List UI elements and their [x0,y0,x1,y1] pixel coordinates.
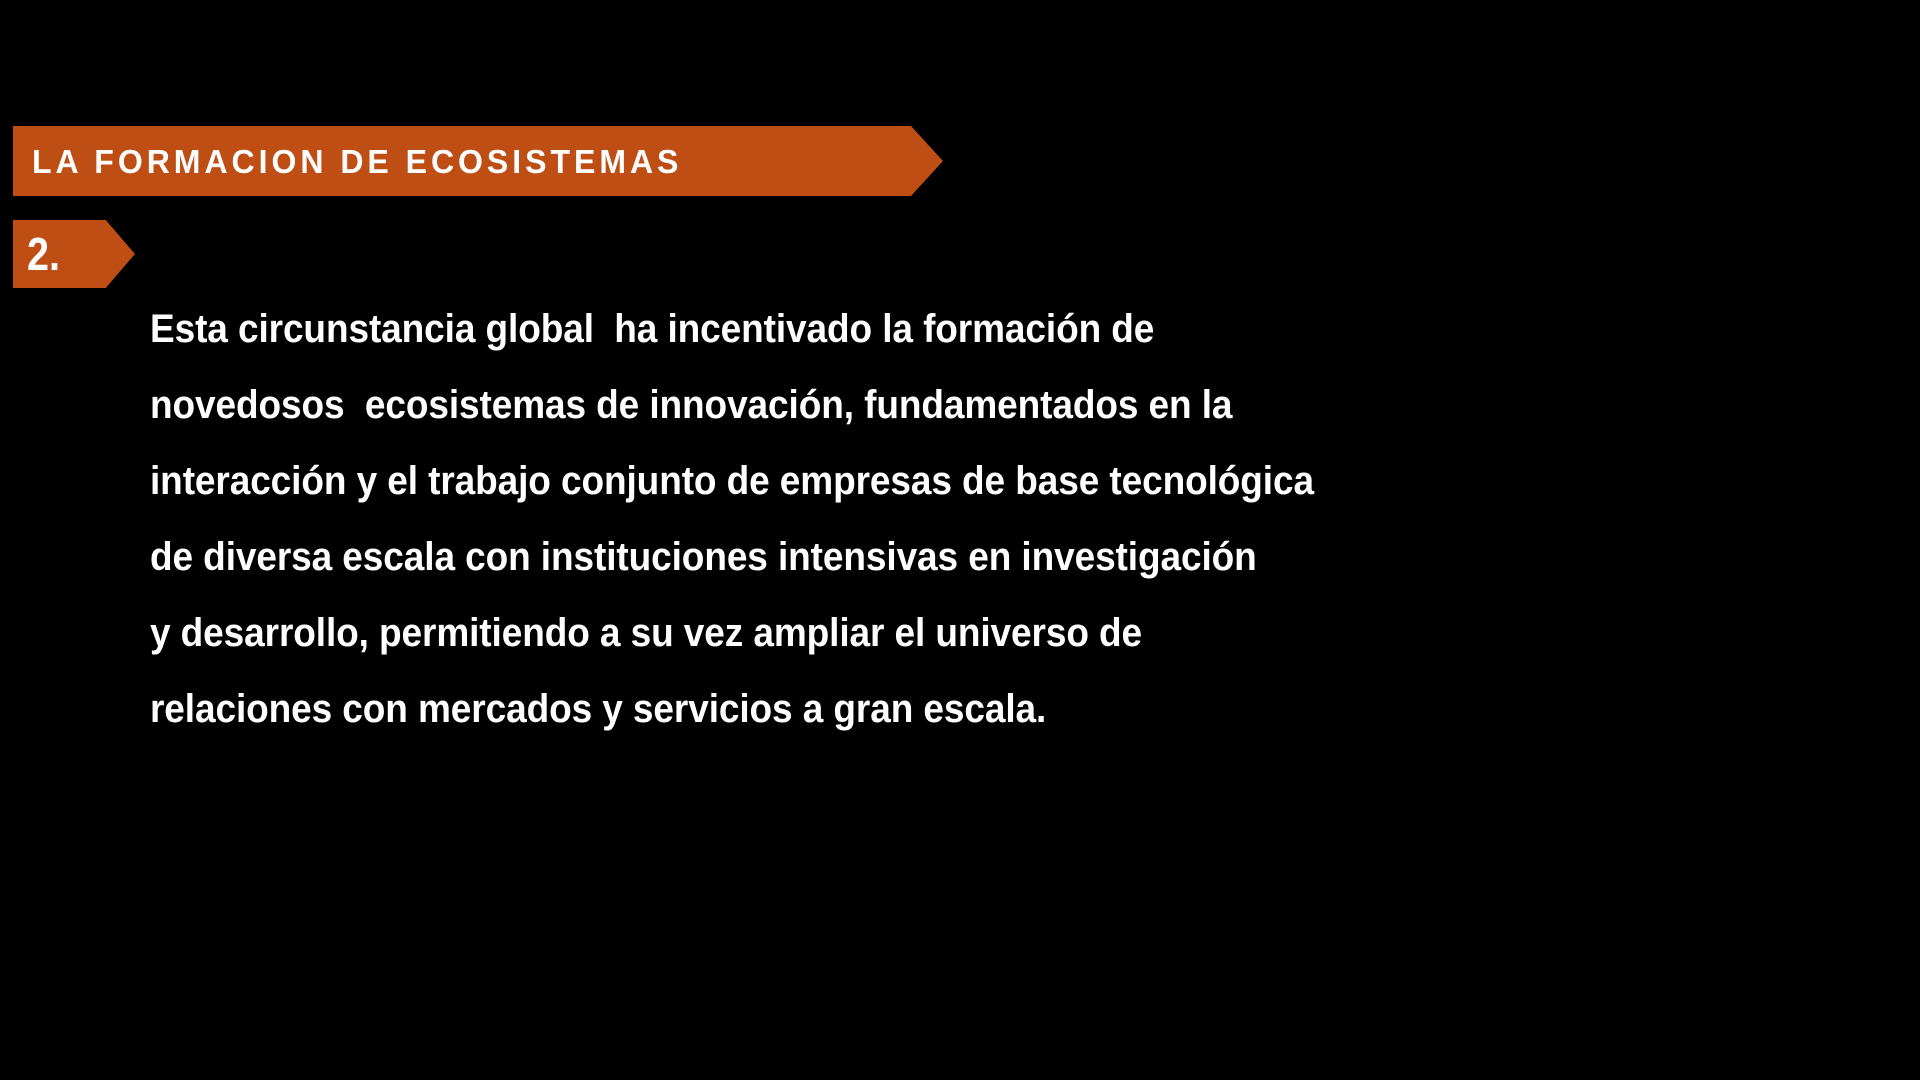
section-title-banner: LA FORMACION DE ECOSISTEMAS [13,126,943,196]
slide-canvas: LA FORMACION DE ECOSISTEMAS 2. Esta circ… [0,0,1920,1080]
body-text-line: y desarrollo, permitiendo a su vez ampli… [150,595,1630,671]
body-text-line: interacción y el trabajo conjunto de emp… [150,443,1630,519]
body-text-line: relaciones con mercados y servicios a gr… [150,671,1630,747]
section-title-text: LA FORMACION DE ECOSISTEMAS [32,145,682,178]
body-paragraph: Esta circunstancia global ha incentivado… [150,291,1750,747]
body-text-line: de diversa escala con instituciones inte… [150,519,1630,595]
body-text-line: Esta circunstancia global ha incentivado… [150,291,1630,367]
section-number-text: 2. [27,231,60,277]
section-number-badge: 2. [13,220,135,288]
body-text-line: novedosos ecosistemas de innovación, fun… [150,367,1630,443]
